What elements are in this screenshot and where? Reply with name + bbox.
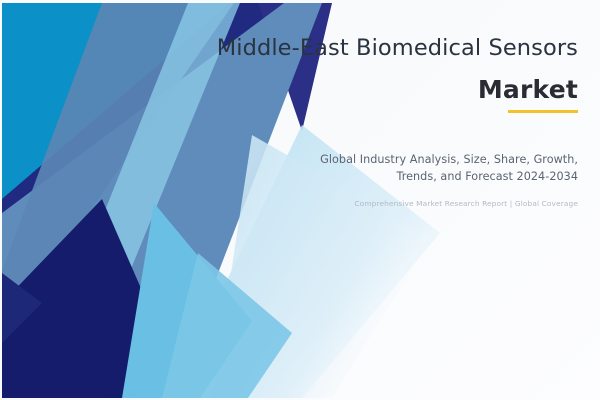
gold-accent-rule: [508, 110, 578, 113]
cover-tagline: Comprehensive Market Research Report | G…: [320, 199, 578, 209]
page-title: Middle-East Biomedical Sensors: [180, 34, 578, 63]
subtitle-line-2: Trends, and Forecast 2024-2034: [300, 169, 578, 186]
cover-title-block: Middle-East Biomedical Sensors Market: [180, 34, 578, 113]
market-heading: Market: [478, 76, 578, 105]
subtitle-line-1: Global Industry Analysis, Size, Share, G…: [300, 152, 578, 169]
market-heading-wrap: Market: [180, 76, 578, 113]
report-cover: Middle-East Biomedical Sensors Market Gl…: [0, 0, 600, 400]
cover-subtitle-block: Global Industry Analysis, Size, Share, G…: [300, 152, 578, 185]
